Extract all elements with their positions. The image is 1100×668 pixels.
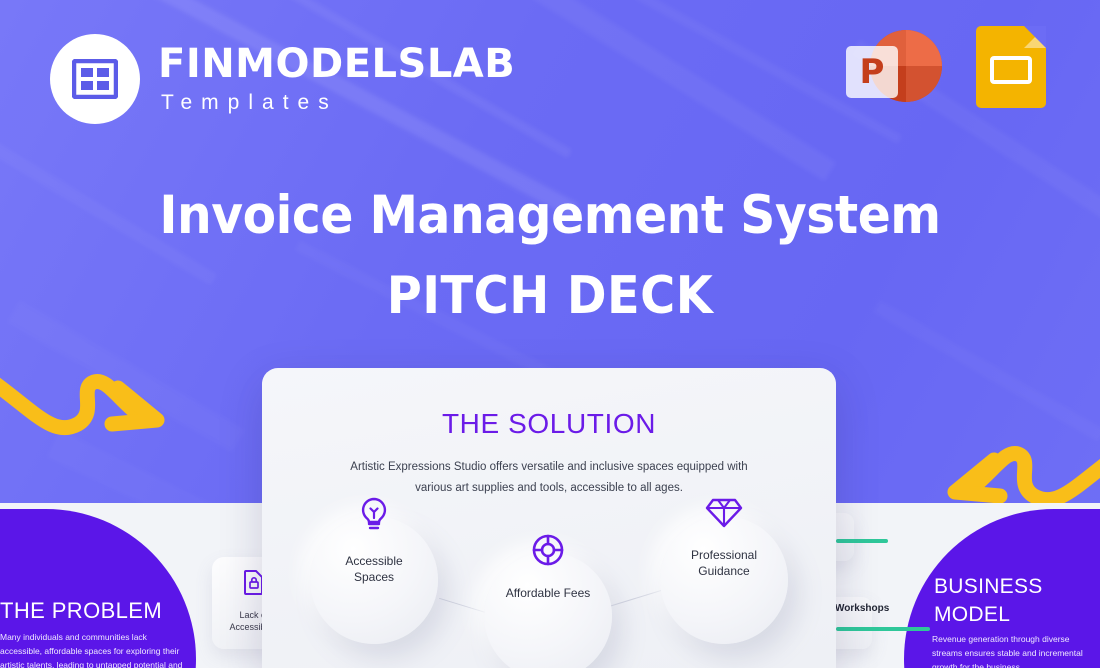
google-slides-icon[interactable] [964, 22, 1056, 114]
brand-name: FINMODELSLAB [158, 44, 515, 84]
donut-lifebuoy-icon [530, 532, 566, 573]
hero-title-line1: Invoice Management System [44, 188, 1056, 244]
diamond-gem-icon [705, 496, 743, 535]
lightbulb-icon [357, 496, 391, 541]
business-accent-bar [836, 539, 888, 543]
solution-item-affordable-fees: Affordable Fees [484, 552, 612, 668]
business-accent-bar [836, 627, 930, 631]
business-body: Revenue generation through diverse strea… [932, 633, 1100, 668]
business-item-label: Workshops [835, 603, 889, 614]
solution-items: AccessibleSpaces Affordable Fees Profess… [262, 488, 836, 668]
powerpoint-tile: P [846, 46, 898, 98]
solution-item-label: AccessibleSpaces [345, 553, 402, 585]
solution-title: THE SOLUTION [262, 408, 836, 440]
brush-stroke [468, 0, 836, 181]
connector-line [607, 590, 663, 608]
problem-body: Many individuals and communities lack ac… [0, 631, 186, 668]
slide-preview-problem[interactable]: Lack ofAccessibility THE PROBLEM Many in… [0, 503, 288, 668]
squiggly-arrow-right-icon [0, 352, 180, 458]
powerpoint-letter: P [860, 55, 885, 89]
slides-screen-icon [990, 56, 1032, 84]
slides-page [976, 26, 1046, 108]
problem-title: THE PROBLEM [0, 598, 230, 624]
slide-preview-business-model[interactable]: Workshops BUSINESS MODEL Revenue generat… [812, 503, 1100, 668]
format-icons: P [846, 22, 1056, 114]
grid-table-icon [50, 34, 140, 124]
solution-item-label: Affordable Fees [506, 585, 591, 601]
brand-logo[interactable]: FINMODELSLAB Templates [50, 34, 515, 124]
hero-title-line2: PITCH DECK [44, 266, 1056, 326]
business-title: BUSINESS MODEL [934, 573, 1094, 628]
page-title: Invoice Management System PITCH DECK [0, 188, 1100, 326]
solution-item-label: ProfessionalGuidance [691, 547, 757, 579]
solution-item-accessible-spaces: AccessibleSpaces [310, 516, 438, 644]
powerpoint-icon[interactable]: P [846, 22, 938, 114]
slide-preview-solution[interactable]: THE SOLUTION Artistic Expressions Studio… [262, 368, 836, 668]
brand-text: FINMODELSLAB Templates [158, 44, 515, 115]
brand-subtitle: Templates [158, 91, 515, 115]
slides-fold-cut [1024, 26, 1046, 48]
solution-item-professional-guidance: ProfessionalGuidance [660, 516, 788, 644]
